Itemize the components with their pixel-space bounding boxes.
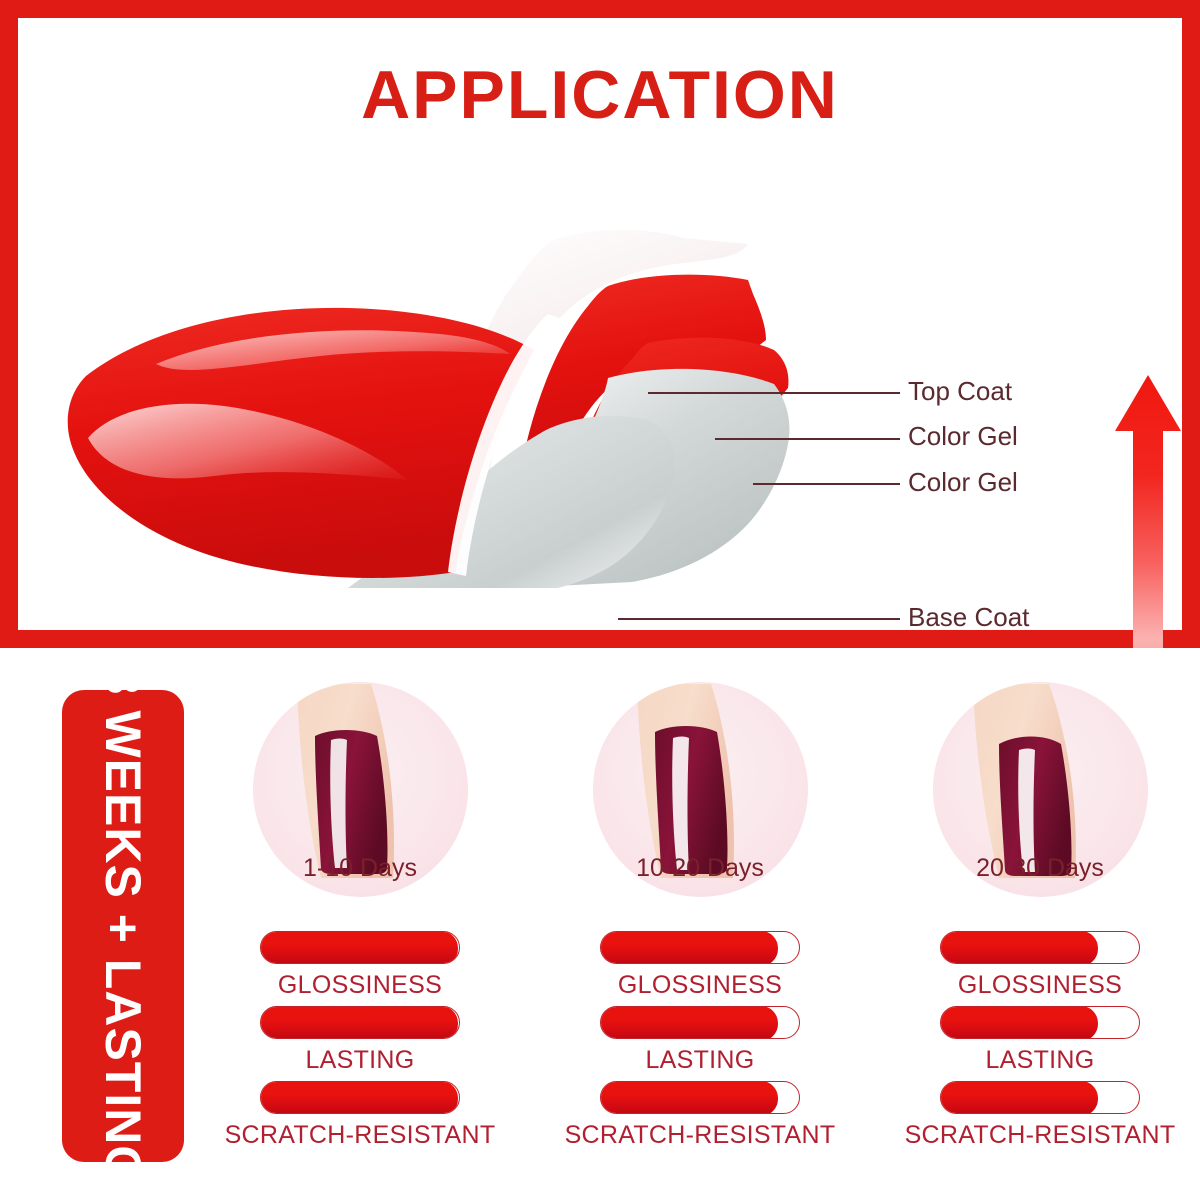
- nail-layers-illustration: [48, 168, 888, 588]
- bar-fill-scratch-2: [600, 1081, 778, 1114]
- metric-lasting-1: LASTING: [210, 1006, 510, 1075]
- bar-track-lasting-1: [260, 1006, 460, 1039]
- bar-track-glossiness-2: [600, 931, 800, 964]
- durability-column-3: 20-30 Days GLOSSINESS LASTING: [890, 668, 1190, 1188]
- leader-line-color-gel-2: [753, 483, 900, 485]
- metric-glossiness-1: GLOSSINESS: [210, 931, 510, 1000]
- metric-glossiness-2: GLOSSINESS: [550, 931, 850, 1000]
- metric-scratch-3: SCRATCH-RESISTANT: [890, 1081, 1190, 1150]
- bar-fill-scratch-1: [260, 1081, 458, 1114]
- leader-line-color-gel-1: [715, 438, 900, 440]
- leader-line-base-coat: [618, 618, 900, 620]
- label-top-coat: Top Coat: [908, 376, 1012, 407]
- label-color-gel-2: Color Gel: [908, 467, 1018, 498]
- metric-label-scratch-1: SCRATCH-RESISTANT: [225, 1121, 496, 1150]
- page-title: APPLICATION: [18, 56, 1182, 134]
- bar-track-scratch-3: [940, 1081, 1140, 1114]
- durability-column-2: 10-20 Days GLOSSINESS LASTING: [550, 668, 850, 1188]
- metric-label-lasting-1: LASTING: [305, 1046, 414, 1075]
- days-label-2: 10-20 Days: [593, 854, 808, 883]
- metric-label-lasting-2: LASTING: [645, 1046, 754, 1075]
- lasting-banner: 3 WEEKS + LASTING: [62, 690, 184, 1162]
- metric-lasting-2: LASTING: [550, 1006, 850, 1075]
- metric-glossiness-3: GLOSSINESS: [890, 931, 1190, 1000]
- leader-line-top-coat: [648, 392, 900, 394]
- metrics-3: GLOSSINESS LASTING SCRATCH-RESISTANT: [890, 931, 1190, 1156]
- bar-track-lasting-2: [600, 1006, 800, 1039]
- bar-fill-lasting-3: [940, 1006, 1098, 1039]
- bar-track-glossiness-1: [260, 931, 460, 964]
- application-panel: APPLICATION: [0, 0, 1200, 648]
- metrics-1: GLOSSINESS LASTING SCRATCH-RESISTANT: [210, 931, 510, 1156]
- metric-lasting-3: LASTING: [890, 1006, 1190, 1075]
- label-color-gel-1: Color Gel: [908, 421, 1018, 452]
- metric-label-lasting-3: LASTING: [985, 1046, 1094, 1075]
- nail-photo-circle-3: 20-30 Days: [933, 682, 1148, 897]
- nail-photo-circle-2: 10-20 Days: [593, 682, 808, 897]
- bar-track-lasting-3: [940, 1006, 1140, 1039]
- bar-fill-glossiness-2: [600, 931, 778, 964]
- bar-fill-glossiness-3: [940, 931, 1098, 964]
- bar-track-glossiness-3: [940, 931, 1140, 964]
- metric-label-glossiness-2: GLOSSINESS: [618, 971, 782, 1000]
- bar-fill-scratch-3: [940, 1081, 1098, 1114]
- bar-fill-lasting-2: [600, 1006, 778, 1039]
- metrics-2: GLOSSINESS LASTING SCRATCH-RESISTANT: [550, 931, 850, 1156]
- nail-photo-circle-1: 1-10 Days: [253, 682, 468, 897]
- metric-label-scratch-2: SCRATCH-RESISTANT: [565, 1121, 836, 1150]
- lasting-banner-text: 3 WEEKS + LASTING: [94, 690, 152, 1162]
- durability-columns: 1-10 Days GLOSSINESS LASTING: [210, 668, 1190, 1188]
- days-label-3: 20-30 Days: [933, 854, 1148, 883]
- durability-section: 3 WEEKS + LASTING: [0, 648, 1200, 1200]
- bar-track-scratch-1: [260, 1081, 460, 1114]
- label-base-coat: Base Coat: [908, 602, 1029, 633]
- days-label-1: 1-10 Days: [253, 854, 468, 883]
- metric-label-glossiness-3: GLOSSINESS: [958, 971, 1122, 1000]
- bar-fill-glossiness-1: [260, 931, 458, 964]
- bar-track-scratch-2: [600, 1081, 800, 1114]
- metric-label-scratch-3: SCRATCH-RESISTANT: [905, 1121, 1176, 1150]
- durability-column-1: 1-10 Days GLOSSINESS LASTING: [210, 668, 510, 1188]
- bar-fill-lasting-1: [260, 1006, 458, 1039]
- nail-cross-section-diagram: Top Coat Color Gel Color Gel Base Coat N…: [18, 168, 1182, 608]
- metric-label-glossiness-1: GLOSSINESS: [278, 971, 442, 1000]
- metric-scratch-1: SCRATCH-RESISTANT: [210, 1081, 510, 1150]
- metric-scratch-2: SCRATCH-RESISTANT: [550, 1081, 850, 1150]
